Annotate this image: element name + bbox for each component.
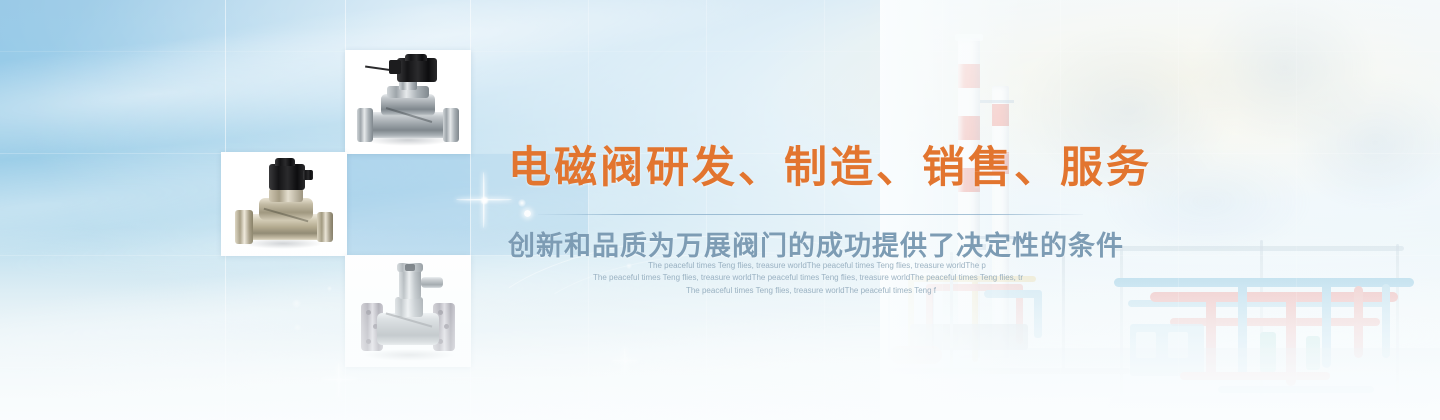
blurb-line-1: The peaceful times Teng flies, treasure … bbox=[508, 260, 1108, 272]
hero-headline: 电磁阀研发、制造、销售、服务 bbox=[508, 146, 1108, 191]
sparkle-dot-1 bbox=[518, 199, 526, 207]
divider-rule bbox=[538, 214, 1083, 215]
grid-line-h-1 bbox=[0, 51, 1440, 52]
hero-blurb: The peaceful times Teng flies, treasure … bbox=[508, 260, 1108, 297]
blurb-line-2: The peaceful times Teng flies, treasure … bbox=[508, 272, 1108, 284]
product-tile-1[interactable] bbox=[345, 50, 471, 154]
hero-subheadline: 创新和品质为万展阀门的成功提供了决定性的条件 bbox=[508, 224, 1124, 263]
hero-banner: 电磁阀研发、制造、销售、服务 创新和品质为万展阀门的成功提供了决定性的条件 Th… bbox=[0, 0, 1440, 420]
blurb-line-3: The peaceful times Teng flies, treasure … bbox=[508, 285, 1108, 297]
hero-text-block: 电磁阀研发、制造、销售、服务 创新和品质为万展阀门的成功提供了决定性的条件 Th… bbox=[508, 146, 1108, 191]
divider-dot bbox=[524, 210, 531, 217]
solenoid-valve-threaded-top-image bbox=[345, 50, 471, 154]
